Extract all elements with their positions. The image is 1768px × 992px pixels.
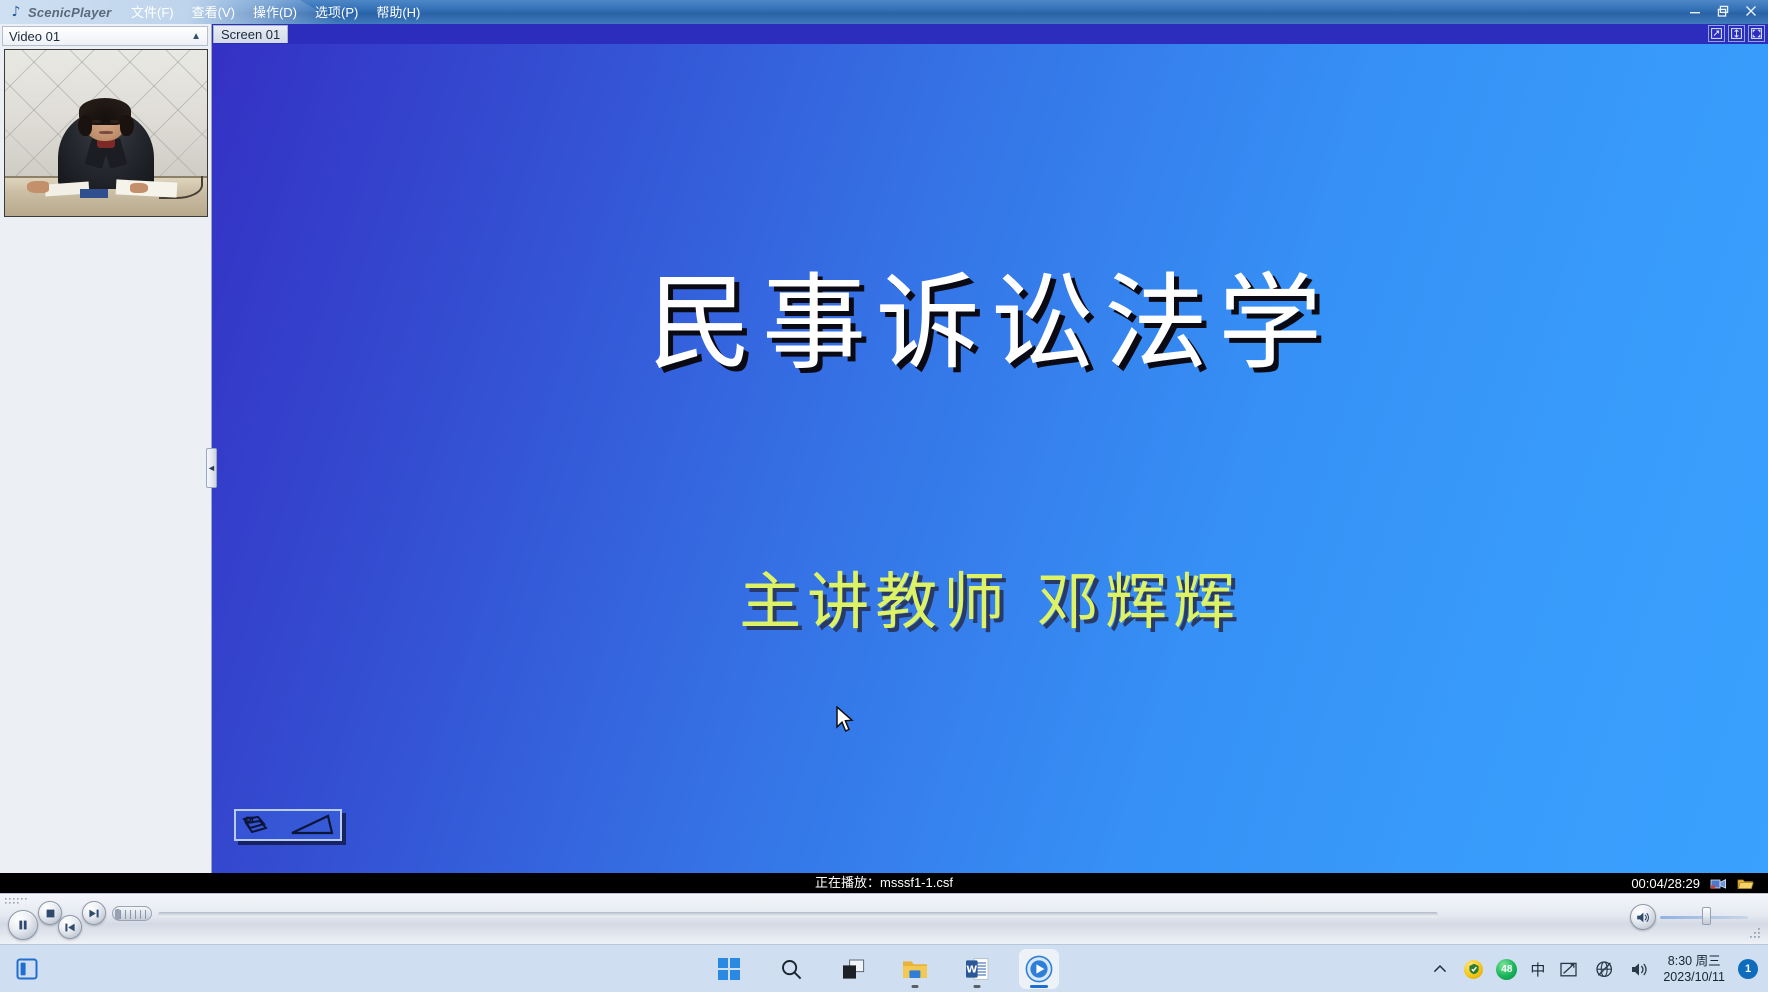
video-preview[interactable] [4,49,208,217]
close-icon[interactable] [1738,2,1764,21]
status-bar-right: 00:04/28:29 [1631,873,1754,893]
panel-collapse-handle[interactable]: ◄ [206,448,217,488]
now-playing-label: 正在播放：msssf1-1.csf [0,873,1768,893]
clock[interactable]: 8:30 周三 2023/10/11 [1663,953,1725,985]
network-offline-icon[interactable] [1593,958,1615,980]
fullscreen-icon[interactable] [1748,25,1765,42]
windows-taskbar: W 48 [0,944,1768,992]
minimize-icon[interactable] [1682,2,1708,21]
playback-time: 00:04/28:29 [1631,876,1700,891]
video-person-eye-right [110,120,119,123]
svg-text:W: W [966,964,977,975]
menu-view[interactable]: 查看(V) [183,2,244,23]
status-bar: 正在播放：msssf1-1.csf 00:04/28:29 [0,873,1768,893]
menu-help[interactable]: 帮助(H) [367,2,429,23]
speed-slider[interactable] [112,906,152,921]
resize-grip-left-icon [5,898,31,908]
ime-indicator[interactable]: 中 [1530,959,1545,980]
menu-bar: 文件(F) 查看(V) 操作(D) 选项(P) 帮助(H) [122,2,429,23]
move-arrow-icon[interactable] [1728,25,1745,42]
active-indicator [1030,985,1048,988]
notification-badge[interactable]: 1 [1738,959,1758,979]
clock-date: 2023/10/11 [1663,969,1725,985]
task-view-button[interactable] [833,949,873,989]
update-badge[interactable]: 48 [1496,959,1517,980]
running-indicator [974,985,981,988]
check-mark-icon[interactable] [1558,958,1580,980]
speaker-icon[interactable] [1628,958,1650,980]
window-controls [1682,1,1764,21]
video-panel-title: Video 01 [3,29,60,44]
chevron-up-icon[interactable]: ▲ [191,31,201,42]
menu-file[interactable]: 文件(F) [122,2,183,23]
volume-slider-knob[interactable] [1702,907,1711,925]
app-title: ScenicPlayer [28,4,111,21]
video-person-hand-left [27,181,49,193]
chevron-up-icon[interactable] [1429,958,1451,980]
mouse-pointer-icon [835,706,855,734]
title-bar: ♪ ScenicPlayer 文件(F) 查看(V) 操作(D) 选项(P) 帮… [0,0,1768,24]
clock-time: 8:30 周三 [1663,953,1725,969]
slide-subtitle: 主讲教师 邓辉辉 [212,569,1768,634]
speed-slider-ticks [120,910,148,919]
menu-operate[interactable]: 操作(D) [244,2,306,23]
volume-icon[interactable] [1630,904,1656,930]
video-person-hand-right [130,183,148,193]
open-folder-icon[interactable] [1736,876,1754,891]
slide-title: 民事诉讼法学 [212,269,1768,378]
resize-grip-right-icon[interactable] [1748,926,1762,940]
volume-control [1630,902,1750,932]
previous-button[interactable] [58,915,82,939]
next-button[interactable] [82,901,106,925]
file-explorer-button[interactable] [895,949,935,989]
video-person-mouth [99,131,113,134]
slide-deco-icon [234,809,342,841]
media-player-button[interactable] [1019,949,1059,989]
chevron-left-icon: ◄ [207,463,216,473]
pause-button[interactable] [8,910,38,940]
video-panel-empty-area [0,220,211,873]
resize-arrow-icon[interactable] [1708,25,1725,42]
speed-slider-knob[interactable] [115,909,120,920]
scenicplayer-window: ♪ ScenicPlayer 文件(F) 查看(V) 操作(D) 选项(P) 帮… [0,0,1768,944]
system-tray: 48 中 [1429,945,1758,992]
video-person-eye-left [92,120,101,123]
security-icon[interactable] [1464,960,1483,979]
video-panel-header[interactable]: Video 01 ▲ [2,26,208,46]
running-indicator [912,985,919,988]
restore-icon[interactable] [1710,2,1736,21]
capture-video-icon[interactable] [1709,876,1727,891]
video-panel: Video 01 ▲ [0,24,212,873]
start-button[interactable] [709,949,749,989]
presentation-slide[interactable]: 民事诉讼法学 主讲教师 邓辉辉 [212,44,1768,873]
window-content: Video 01 ▲ [0,24,1768,873]
screen-tab-strip: Screen 01 [212,24,1768,44]
word-button[interactable]: W [957,949,997,989]
note-icon: ♪ [8,4,24,20]
transport-bar [0,893,1768,944]
video-person-hair-side-left [78,115,92,137]
video-book [80,189,108,197]
tab-screen-01[interactable]: Screen 01 [213,25,288,43]
screen-root: ♪ ScenicPlayer 文件(F) 查看(V) 操作(D) 选项(P) 帮… [0,0,1768,992]
screen-buttons [1708,25,1765,42]
seek-bar[interactable] [158,912,1438,917]
screen-panel: Screen 01 [212,24,1768,873]
search-button[interactable] [771,949,811,989]
menu-options[interactable]: 选项(P) [306,2,367,23]
